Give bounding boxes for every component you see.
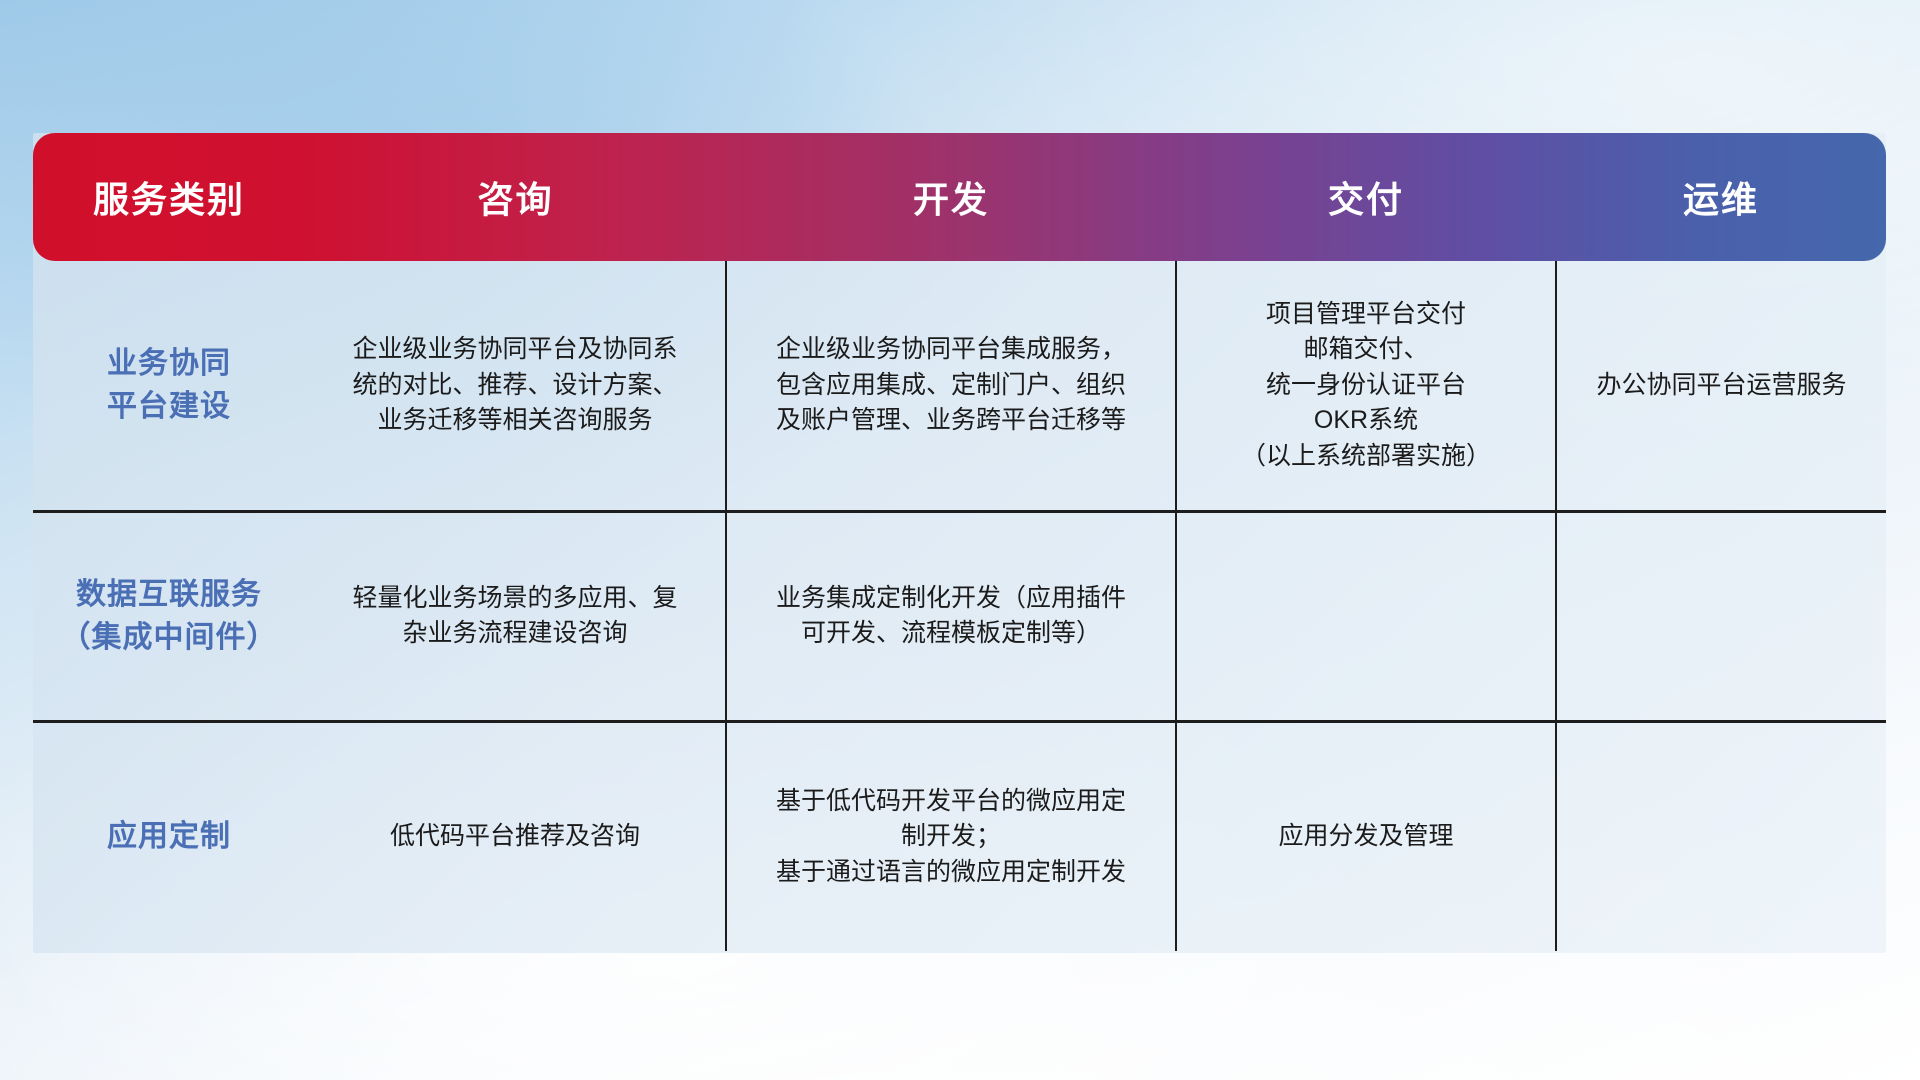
cell-delivery: 应用分发及管理 xyxy=(1176,721,1556,951)
table-row: 应用定制 低代码平台推荐及咨询 基于低代码开发平台的微应用定 制开发； 基于通过… xyxy=(33,721,1886,951)
header-cell-service-category: 服务类别 xyxy=(33,133,305,261)
header-row: 服务类别 咨询 开发 交付 运维 xyxy=(33,133,1886,261)
header-label-2: 开发 xyxy=(913,179,989,220)
row-category-label: 业务协同 平台建设 xyxy=(33,261,305,511)
service-table: 服务类别 咨询 开发 交付 运维 xyxy=(33,133,1886,951)
header-cell-delivery: 交付 xyxy=(1176,133,1556,261)
cell-operations: 办公协同平台运营服务 xyxy=(1556,261,1886,511)
header-label-4: 运维 xyxy=(1683,179,1759,220)
cell-operations xyxy=(1556,721,1886,951)
cell-development: 企业级业务协同平台集成服务， 包含应用集成、定制门户、组织 及账户管理、业务跨平… xyxy=(726,261,1176,511)
slide-canvas: 服务类别 咨询 开发 交付 运维 xyxy=(0,0,1920,1080)
header-cell-consulting: 咨询 xyxy=(305,133,726,261)
cell-development: 业务集成定制化开发（应用插件 可开发、流程模板定制等） xyxy=(726,511,1176,721)
table-header: 服务类别 咨询 开发 交付 运维 xyxy=(33,133,1886,261)
table-body: 业务协同 平台建设 企业级业务协同平台及协同系 统的对比、推荐、设计方案、 业务… xyxy=(33,261,1886,951)
service-matrix-table: 服务类别 咨询 开发 交付 运维 xyxy=(33,133,1886,953)
cell-operations xyxy=(1556,511,1886,721)
header-label-1: 咨询 xyxy=(477,179,553,220)
cell-consulting: 轻量化业务场景的多应用、复 杂业务流程建设咨询 xyxy=(305,511,726,721)
header-label-3: 交付 xyxy=(1328,179,1404,220)
row-category-label: 数据互联服务 （集成中间件） xyxy=(33,511,305,721)
table-row: 业务协同 平台建设 企业级业务协同平台及协同系 统的对比、推荐、设计方案、 业务… xyxy=(33,261,1886,511)
cell-consulting: 企业级业务协同平台及协同系 统的对比、推荐、设计方案、 业务迁移等相关咨询服务 xyxy=(305,261,726,511)
cell-development: 基于低代码开发平台的微应用定 制开发； 基于通过语言的微应用定制开发 xyxy=(726,721,1176,951)
row-category-label: 应用定制 xyxy=(33,721,305,951)
cell-delivery: 项目管理平台交付 邮箱交付、 统一身份认证平台 OKR系统 （以上系统部署实施） xyxy=(1176,261,1556,511)
cell-delivery xyxy=(1176,511,1556,721)
table-row: 数据互联服务 （集成中间件） 轻量化业务场景的多应用、复 杂业务流程建设咨询 业… xyxy=(33,511,1886,721)
header-cell-development: 开发 xyxy=(726,133,1176,261)
header-cell-operations: 运维 xyxy=(1556,133,1886,261)
cell-consulting: 低代码平台推荐及咨询 xyxy=(305,721,726,951)
header-label-0: 服务类别 xyxy=(93,179,245,220)
